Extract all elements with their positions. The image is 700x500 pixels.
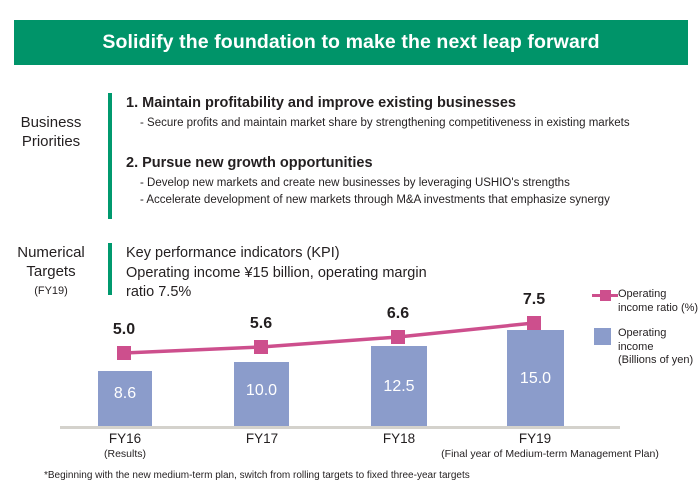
ratio-label-fy17: 5.6 — [233, 315, 289, 333]
chart-legend: Operating income ratio (%) Operating inc… — [592, 288, 700, 380]
legend-box-marker-icon — [592, 327, 618, 343]
footnote: *Beginning with the new medium-term plan… — [44, 470, 470, 481]
x-tick-fy16-note: (Results) — [85, 447, 165, 461]
x-tick-fy18: FY18 — [359, 430, 439, 447]
ratio-label-fy19: 7.5 — [506, 291, 562, 309]
x-tick-fy19-name: FY19 — [495, 430, 575, 447]
ratio-label-fy16: 5.0 — [96, 321, 152, 339]
legend-item-income-label: Operating income (Billions of yen) — [618, 327, 693, 368]
legend-item-income: Operating income (Billions of yen) — [592, 327, 700, 368]
ratio-label-fy18: 6.6 — [370, 305, 426, 323]
operating-income-ratio-line — [0, 0, 700, 500]
x-tick-fy16-name: FY16 — [85, 430, 165, 447]
x-tick-fy19: FY19 — [495, 430, 575, 447]
ratio-marker-fy16 — [117, 346, 131, 360]
ratio-marker-fy19 — [527, 316, 541, 330]
x-tick-fy17: FY17 — [222, 430, 302, 447]
x-tick-fy19-note: (Final year of Medium-term Management Pl… — [415, 447, 685, 461]
legend-line-marker-icon — [592, 288, 618, 304]
ratio-marker-fy17 — [254, 340, 268, 354]
legend-item-ratio-label: Operating income ratio (%) — [618, 288, 698, 315]
x-tick-fy16: FY16 (Results) — [85, 430, 165, 461]
ratio-marker-fy18 — [391, 330, 405, 344]
ratio-polyline — [124, 323, 534, 353]
legend-item-ratio: Operating income ratio (%) — [592, 288, 700, 315]
kpi-chart: 8.6 10.0 12.5 15.0 5.0 5.6 6.6 7.5 FY16 … — [0, 0, 700, 500]
x-tick-fy18-name: FY18 — [359, 430, 439, 447]
x-tick-fy17-name: FY17 — [222, 430, 302, 447]
x-tick-fy19-note-wrap: (Final year of Medium-term Management Pl… — [415, 447, 685, 461]
